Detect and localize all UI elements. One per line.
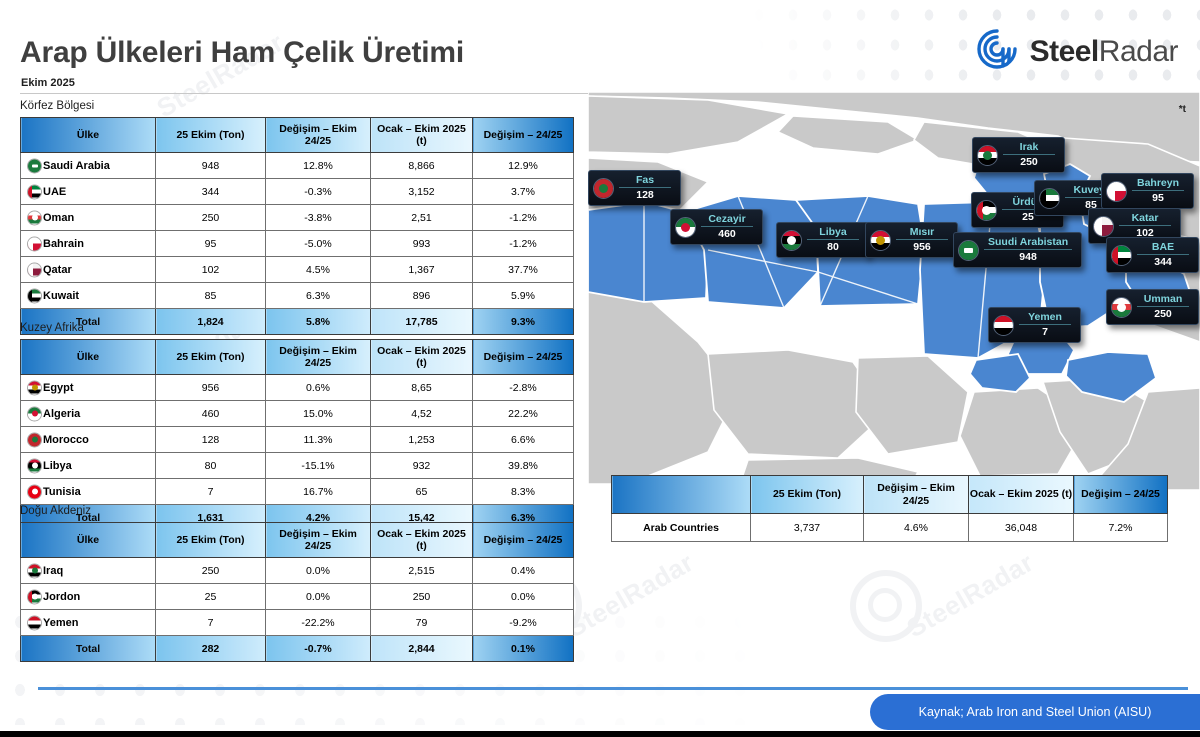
cell-ytd-change: -2.8% xyxy=(473,375,574,401)
total-ytd: 2,844 xyxy=(371,636,473,662)
table-row: UAE344-0.3%3,1523.7% xyxy=(21,179,574,205)
flag-icon-bh xyxy=(1106,181,1127,202)
table-dogu-akdeniz: Ülke 25 Ekim (Ton) Değişim – Ekim 24/25 … xyxy=(20,522,574,662)
map-pin-name: Yemen xyxy=(1019,311,1071,325)
map-pin-umman[interactable]: Umman250 xyxy=(1106,289,1199,325)
cell-ytd-change: -1.2% xyxy=(473,231,574,257)
radar-spiral-icon xyxy=(974,26,1020,77)
summary-col-ytd: Ocak – Ekim 2025 (t) xyxy=(969,476,1074,514)
table-row: Libya80-15.1%93239.8% xyxy=(21,453,574,479)
cell-month-change: 16.7% xyxy=(266,479,371,505)
cell-month: 948 xyxy=(156,153,266,179)
table-total-row: Total1,8245.8%17,7859.3% xyxy=(21,309,574,335)
table-row: Qatar1024.5%1,36737.7% xyxy=(21,257,574,283)
cell-ytd: 1,253 xyxy=(371,427,473,453)
summary-col-month: 25 Ekim (Ton) xyxy=(751,476,864,514)
col-month: 25 Ekim (Ton) xyxy=(156,340,266,375)
col-month-change: Değişim – Ekim 24/25 xyxy=(266,340,371,375)
map-pin-value: 460 xyxy=(718,227,736,241)
col-country: Ülke xyxy=(21,340,156,375)
map-pin-name: Umman xyxy=(1137,293,1189,307)
table-row: Morocco12811.3%1,2536.6% xyxy=(21,427,574,453)
cell-ytd-change: -1.2% xyxy=(473,205,574,231)
col-month-change: Değişim – Ekim 24/25 xyxy=(266,523,371,558)
flag-icon-ma xyxy=(593,178,614,199)
country-label: Kuwait xyxy=(43,290,79,302)
cell-month-change: -15.1% xyxy=(266,453,371,479)
cell-ytd: 65 xyxy=(371,479,473,505)
flag-icon-sa xyxy=(27,158,42,173)
flag-icon-sa xyxy=(958,240,979,261)
section-title-kuzey-afrika: Kuzey Afrika xyxy=(20,322,84,334)
cell-country: Morocco xyxy=(21,427,156,453)
country-label: Yemen xyxy=(43,617,78,629)
cell-ytd: 3,152 xyxy=(371,179,473,205)
cell-ytd: 1,367 xyxy=(371,257,473,283)
table-total-row: Total282-0.7%2,8440.1% xyxy=(21,636,574,662)
cell-ytd: 4,52 xyxy=(371,401,473,427)
flag-icon-qa xyxy=(1093,216,1114,237)
flag-icon-ye xyxy=(993,315,1014,336)
flag-icon-kw xyxy=(27,288,42,303)
flag-icon-ly xyxy=(27,458,42,473)
cell-month-change: -3.8% xyxy=(266,205,371,231)
col-ytd: Ocak – Ekim 2025 (t) xyxy=(371,523,473,558)
flag-icon-iq xyxy=(977,145,998,166)
total-month: 282 xyxy=(156,636,266,662)
col-ytd: Ocak – Ekim 2025 (t) xyxy=(371,340,473,375)
flag-icon-dz xyxy=(675,217,696,238)
map-pin-value: 7 xyxy=(1042,325,1048,339)
flag-icon-dz xyxy=(27,406,42,421)
flag-icon-eg xyxy=(870,230,891,251)
cell-ytd: 79 xyxy=(371,610,473,636)
footer-divider xyxy=(38,687,1188,690)
summary-row: Arab Countries 3,737 4.6% 36,048 7.2% xyxy=(612,514,1168,542)
flag-icon-ae xyxy=(1111,245,1132,266)
cell-ytd-change: -9.2% xyxy=(473,610,574,636)
table-row: Yemen7-22.2%79-9.2% xyxy=(21,610,574,636)
cell-month-change: 4.5% xyxy=(266,257,371,283)
country-label: Iraq xyxy=(43,565,63,577)
infographic-page: SteelRadar SteelRadar SteelRadar SteelRa… xyxy=(0,0,1200,737)
col-ytd: Ocak – Ekim 2025 (t) xyxy=(371,118,473,153)
flag-icon-eg xyxy=(27,380,42,395)
country-label: UAE xyxy=(43,186,66,198)
table-row: Saudi Arabia94812.8%8,86612.9% xyxy=(21,153,574,179)
cell-country: Yemen xyxy=(21,610,156,636)
country-label: Morocco xyxy=(43,434,89,446)
cell-country: Tunisia xyxy=(21,479,156,505)
cell-ytd: 896 xyxy=(371,283,473,309)
summary-label: Arab Countries xyxy=(612,514,751,542)
table-body-kuzey-afrika: Egypt9560.6%8,65-2.8%Algeria46015.0%4,52… xyxy=(21,375,574,531)
map-pin-value: 80 xyxy=(827,240,839,254)
map-pin-value: 25 xyxy=(1022,210,1034,224)
watermark-text: SteelRadar xyxy=(562,547,699,644)
cell-month-change: 12.8% xyxy=(266,153,371,179)
table-summary-arab-countries: 25 Ekim (Ton) Değişim – Ekim 24/25 Ocak … xyxy=(611,475,1168,542)
cell-month: 80 xyxy=(156,453,266,479)
country-label: Qatar xyxy=(43,264,72,276)
cell-month: 7 xyxy=(156,610,266,636)
col-ytd-change: Değişim – 24/25 xyxy=(473,118,574,153)
arab-countries-map: *t Fas128Cezayir460Libya80Mısır956Ürdün2… xyxy=(588,92,1200,490)
map-pin-name: Mısır xyxy=(896,226,948,240)
cell-ytd-change: 0.0% xyxy=(473,584,574,610)
page-subtitle: Ekim 2025 xyxy=(21,77,75,89)
flag-icon-om xyxy=(1111,297,1132,318)
section-title-korfez: Körfez Bölgesi xyxy=(20,100,94,112)
flag-icon-ma xyxy=(27,432,42,447)
flag-icon-kw xyxy=(1039,188,1060,209)
col-ytd-change: Değişim – 24/25 xyxy=(473,523,574,558)
table-row: Jordon250.0%2500.0% xyxy=(21,584,574,610)
cell-country: Saudi Arabia xyxy=(21,153,156,179)
col-country: Ülke xyxy=(21,118,156,153)
total-month: 1,824 xyxy=(156,309,266,335)
cell-country: Algeria xyxy=(21,401,156,427)
cell-country: Iraq xyxy=(21,558,156,584)
table-body-dogu-akdeniz: Iraq2500.0%2,5150.4%Jordon250.0%2500.0%Y… xyxy=(21,558,574,662)
table-header-row: Ülke 25 Ekim (Ton) Değişim – Ekim 24/25 … xyxy=(21,340,574,375)
map-pin-libya[interactable]: Libya80 xyxy=(776,222,869,258)
total-ytd-change: 0.1% xyxy=(473,636,574,662)
map-pin-suudi-arabistan[interactable]: Suudi Arabistan948 xyxy=(953,232,1082,268)
map-pin-name: Katar xyxy=(1119,212,1171,226)
table-row: Egypt9560.6%8,65-2.8% xyxy=(21,375,574,401)
map-note: *t xyxy=(1179,104,1186,115)
cell-country: UAE xyxy=(21,179,156,205)
flag-icon-ye xyxy=(27,615,42,630)
country-label: Jordon xyxy=(43,591,80,603)
cell-month: 344 xyxy=(156,179,266,205)
flag-icon-bh xyxy=(27,236,42,251)
brand-logo: SteelRadar xyxy=(974,26,1178,77)
map-pin-bae[interactable]: BAE344 xyxy=(1106,237,1199,273)
cell-ytd: 250 xyxy=(371,584,473,610)
cell-ytd-change: 3.7% xyxy=(473,179,574,205)
section-title-dogu-akdeniz: Doğu Akdeniz xyxy=(20,505,91,517)
page-title: Arap Ülkeleri Ham Çelik Üretimi xyxy=(20,36,464,70)
map-pin-name: BAE xyxy=(1137,241,1189,255)
table-row: Algeria46015.0%4,5222.2% xyxy=(21,401,574,427)
total-month-change: 5.8% xyxy=(266,309,371,335)
map-pin-name: Suudi Arabistan xyxy=(984,236,1072,250)
map-pin-irak[interactable]: Irak250 xyxy=(972,137,1065,173)
flag-icon-ly xyxy=(781,230,802,251)
cell-country: Kuwait xyxy=(21,283,156,309)
map-pin-name: Irak xyxy=(1003,141,1055,155)
watermark-ring xyxy=(850,570,922,642)
flag-icon-ae xyxy=(27,184,42,199)
cell-ytd: 932 xyxy=(371,453,473,479)
total-label: Total xyxy=(21,636,156,662)
cell-country: Egypt xyxy=(21,375,156,401)
table-row: Kuwait856.3%8965.9% xyxy=(21,283,574,309)
cell-ytd-change: 37.7% xyxy=(473,257,574,283)
table-row: Tunisia716.7%658.3% xyxy=(21,479,574,505)
map-pin-value: 948 xyxy=(1019,250,1037,264)
summary-ytd-change: 7.2% xyxy=(1074,514,1168,542)
cell-month: 85 xyxy=(156,283,266,309)
cell-ytd-change: 5.9% xyxy=(473,283,574,309)
map-pin-value: 344 xyxy=(1154,255,1172,269)
summary-col-blank xyxy=(612,476,751,514)
cell-month-change: 0.6% xyxy=(266,375,371,401)
country-label: Saudi Arabia xyxy=(43,160,110,172)
cell-month-change: 0.0% xyxy=(266,584,371,610)
map-pin-yemen[interactable]: Yemen7 xyxy=(988,307,1081,343)
col-month-change: Değişim – Ekim 24/25 xyxy=(266,118,371,153)
country-label: Egypt xyxy=(43,382,74,394)
source-badge: Kaynak; Arab Iron and Steel Union (AISU) xyxy=(870,694,1200,730)
summary-col-month-change: Değişim – Ekim 24/25 xyxy=(864,476,969,514)
logo-word-steel: Steel xyxy=(1030,35,1099,68)
cell-ytd-change: 8.3% xyxy=(473,479,574,505)
country-label: Algeria xyxy=(43,408,80,420)
cell-ytd: 2,51 xyxy=(371,205,473,231)
cell-country: Qatar xyxy=(21,257,156,283)
table-row: Iraq2500.0%2,5150.4% xyxy=(21,558,574,584)
map-pin-mısır[interactable]: Mısır956 xyxy=(865,222,958,258)
table-korfez: Ülke 25 Ekim (Ton) Değişim – Ekim 24/25 … xyxy=(20,117,574,335)
cell-ytd: 993 xyxy=(371,231,473,257)
map-pin-value: 250 xyxy=(1020,155,1038,169)
cell-ytd: 8,65 xyxy=(371,375,473,401)
map-pin-name: Libya xyxy=(807,226,859,240)
col-country: Ülke xyxy=(21,523,156,558)
cell-month: 128 xyxy=(156,427,266,453)
map-pin-name: Bahreyn xyxy=(1132,177,1184,191)
col-ytd-change: Değişim – 24/25 xyxy=(473,340,574,375)
table-row: Bahrain95-5.0%993-1.2% xyxy=(21,231,574,257)
cell-month-change: 15.0% xyxy=(266,401,371,427)
map-pin-value: 128 xyxy=(636,188,654,202)
flag-icon-jo xyxy=(976,200,997,221)
summary-month-change: 4.6% xyxy=(864,514,969,542)
summary-header-row: 25 Ekim (Ton) Değişim – Ekim 24/25 Ocak … xyxy=(612,476,1168,514)
country-label: Bahrain xyxy=(43,238,84,250)
cell-ytd-change: 0.4% xyxy=(473,558,574,584)
cell-country: Jordon xyxy=(21,584,156,610)
cell-month: 25 xyxy=(156,584,266,610)
total-month-change: -0.7% xyxy=(266,636,371,662)
flag-icon-jo xyxy=(27,589,42,604)
cell-month: 250 xyxy=(156,558,266,584)
cell-month-change: -0.3% xyxy=(266,179,371,205)
cell-month: 460 xyxy=(156,401,266,427)
map-pin-name: Cezayir xyxy=(701,213,753,227)
country-label: Libya xyxy=(43,460,72,472)
table-header-row: Ülke 25 Ekim (Ton) Değişim – Ekim 24/25 … xyxy=(21,118,574,153)
cell-month: 7 xyxy=(156,479,266,505)
country-label: Tunisia xyxy=(43,486,81,498)
cell-ytd: 2,515 xyxy=(371,558,473,584)
map-pin-bahreyn[interactable]: Bahreyn95 xyxy=(1101,173,1194,209)
summary-month: 3,737 xyxy=(751,514,864,542)
cell-country: Libya xyxy=(21,453,156,479)
cell-month-change: 11.3% xyxy=(266,427,371,453)
table-header-row: Ülke 25 Ekim (Ton) Değişim – Ekim 24/25 … xyxy=(21,523,574,558)
summary-ytd: 36,048 xyxy=(969,514,1074,542)
cell-ytd-change: 39.8% xyxy=(473,453,574,479)
cell-month-change: -22.2% xyxy=(266,610,371,636)
total-ytd: 17,785 xyxy=(371,309,473,335)
cell-country: Oman xyxy=(21,205,156,231)
table-body-korfez: Saudi Arabia94812.8%8,86612.9%UAE344-0.3… xyxy=(21,153,574,335)
map-pin-cezayir[interactable]: Cezayir460 xyxy=(670,209,763,245)
map-pin-value: 95 xyxy=(1152,191,1164,205)
map-pin-value: 250 xyxy=(1154,307,1172,321)
table-row: Oman250-3.8%2,51-1.2% xyxy=(21,205,574,231)
watermark-text: SteelRadar xyxy=(902,547,1039,644)
cell-month-change: -5.0% xyxy=(266,231,371,257)
cell-month: 250 xyxy=(156,205,266,231)
map-pin-value: 956 xyxy=(913,240,931,254)
flag-icon-iq xyxy=(27,563,42,578)
cell-month: 102 xyxy=(156,257,266,283)
table-kuzey-afrika: Ülke 25 Ekim (Ton) Değişim – Ekim 24/25 … xyxy=(20,339,574,531)
map-pin-name: Fas xyxy=(619,174,671,188)
cell-ytd-change: 12.9% xyxy=(473,153,574,179)
summary-col-ytd-change: Değişim – 24/25 xyxy=(1074,476,1168,514)
cell-ytd-change: 22.2% xyxy=(473,401,574,427)
cell-month-change: 0.0% xyxy=(266,558,371,584)
col-month: 25 Ekim (Ton) xyxy=(156,523,266,558)
cell-month: 956 xyxy=(156,375,266,401)
cell-month-change: 6.3% xyxy=(266,283,371,309)
cell-month: 95 xyxy=(156,231,266,257)
col-month: 25 Ekim (Ton) xyxy=(156,118,266,153)
cell-ytd-change: 6.6% xyxy=(473,427,574,453)
flag-icon-qa xyxy=(27,262,42,277)
logo-wordmark: SteelRadar xyxy=(1030,35,1178,69)
flag-icon-om xyxy=(27,210,42,225)
cell-ytd: 8,866 xyxy=(371,153,473,179)
logo-word-radar: Radar xyxy=(1099,35,1178,68)
flag-icon-tn xyxy=(27,484,42,499)
country-label: Oman xyxy=(43,212,74,224)
total-ytd-change: 9.3% xyxy=(473,309,574,335)
cell-country: Bahrain xyxy=(21,231,156,257)
map-pin-fas[interactable]: Fas128 xyxy=(588,170,681,206)
